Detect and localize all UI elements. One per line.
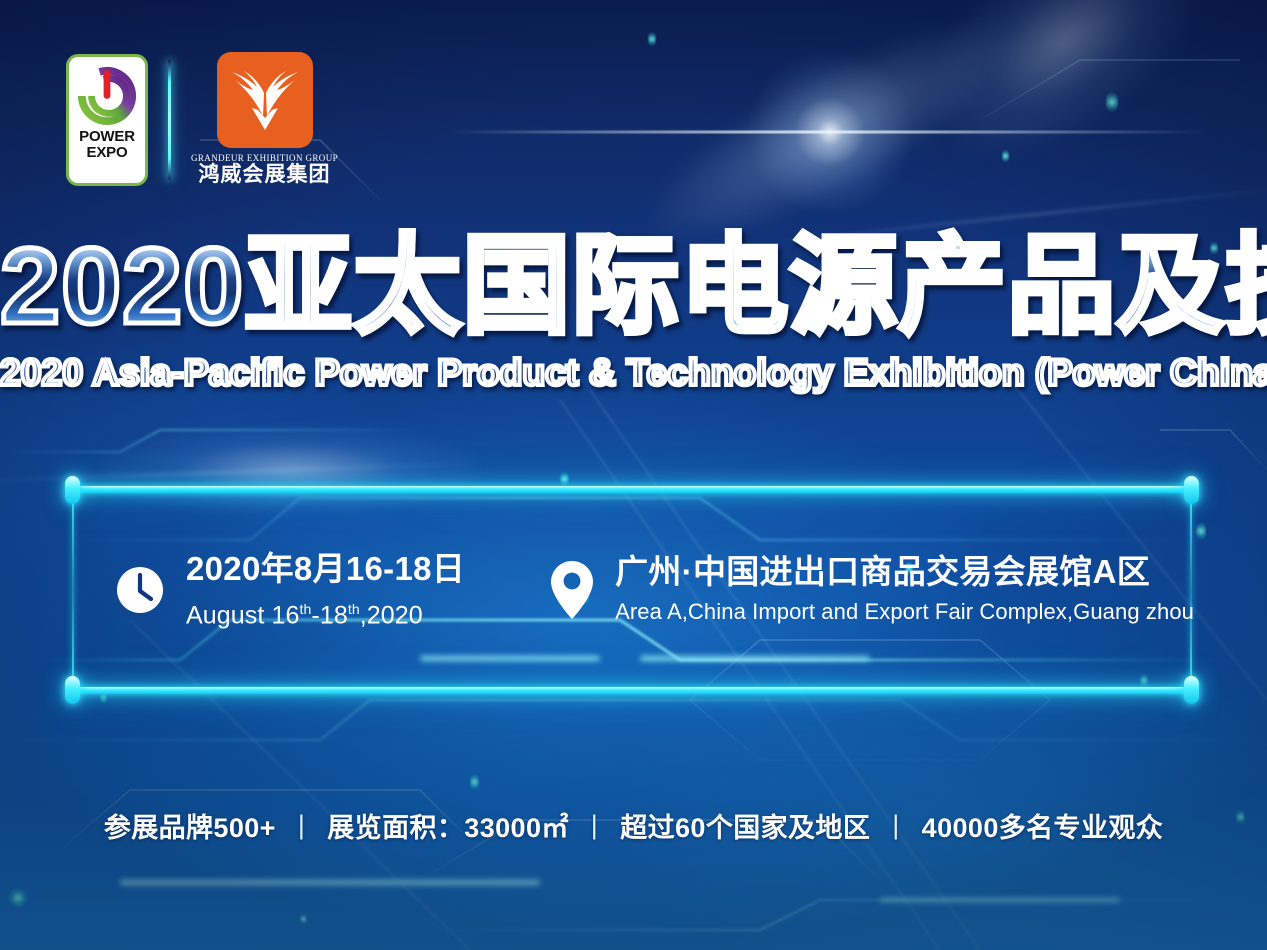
neon-bar-bottom [72,687,1192,694]
stat-area-text: 展览面积：33000 [327,813,541,843]
event-date-chinese: 2020年8月16-18日 [186,547,465,591]
neon-bar-top [72,486,1192,493]
stat-item-visitors: 40000多名专业观众 [922,806,1163,845]
power-button-icon [76,65,138,127]
clock-icon [114,564,166,616]
event-info-box: 2020年8月16-18日 August 16th-18th,2020 广州·中… [72,486,1192,694]
event-banner: POWER EXPO GRANDEUR EXHIBITION GROUP 鸿威会… [0,0,1267,950]
stat-separator-1: | [276,810,327,841]
main-title-english: 2020 Asia-Pacific Power Product & Techno… [0,352,1267,394]
wings-w-icon [227,64,303,136]
date-en-suffix: ,2020 [360,601,423,629]
stat-item-brands: 参展品牌500+ [104,806,276,845]
date-en-sup2: th [348,601,360,617]
event-date-block: 2020年8月16-18日 August 16th-18th,2020 [114,547,465,633]
logo-row: POWER EXPO GRANDEUR EXHIBITION GROUP 鸿威会… [66,52,338,187]
event-date-english: August 16th-18th,2020 [186,591,465,633]
main-title-chinese: 2020亚太国际电源产品及技术展 [0,228,1267,344]
power-expo-wordmark: POWER EXPO [79,129,135,161]
date-en-sup1: th [300,601,312,617]
grandeur-badge [217,52,313,148]
stat-separator-2: | [569,810,620,841]
stat-item-area: 展览面积：33000㎡ [327,806,569,845]
logo-divider [168,60,171,180]
stat-item-countries: 超过60个国家及地区 [620,806,870,845]
power-expo-logo: POWER EXPO [66,54,148,186]
event-venue-chinese: 广州·中国进出口商品交易会展馆A区 [615,550,1194,594]
event-venue-english: Area A,China Import and Export Fair Comp… [615,594,1194,630]
grandeur-logo: GRANDEUR EXHIBITION GROUP 鸿威会展集团 [191,52,338,187]
grandeur-chinese: 鸿威会展集团 [199,163,331,187]
power-expo-line2: EXPO [79,145,135,161]
date-en-prefix: August 16 [186,601,300,629]
date-en-mid: -18 [311,601,347,629]
grandeur-english: GRANDEUR EXHIBITION GROUP [191,153,338,163]
stats-bar: 参展品牌500+ | 展览面积：33000㎡ | 超过60个国家及地区 | 40… [0,806,1267,845]
event-venue-block: 广州·中国进出口商品交易会展馆A区 Area A,China Import an… [549,550,1194,630]
stat-separator-3: | [870,810,921,841]
power-expo-line1: POWER [79,129,135,145]
stat-area-unit: ㎡ [541,813,568,843]
map-pin-icon [549,559,595,621]
